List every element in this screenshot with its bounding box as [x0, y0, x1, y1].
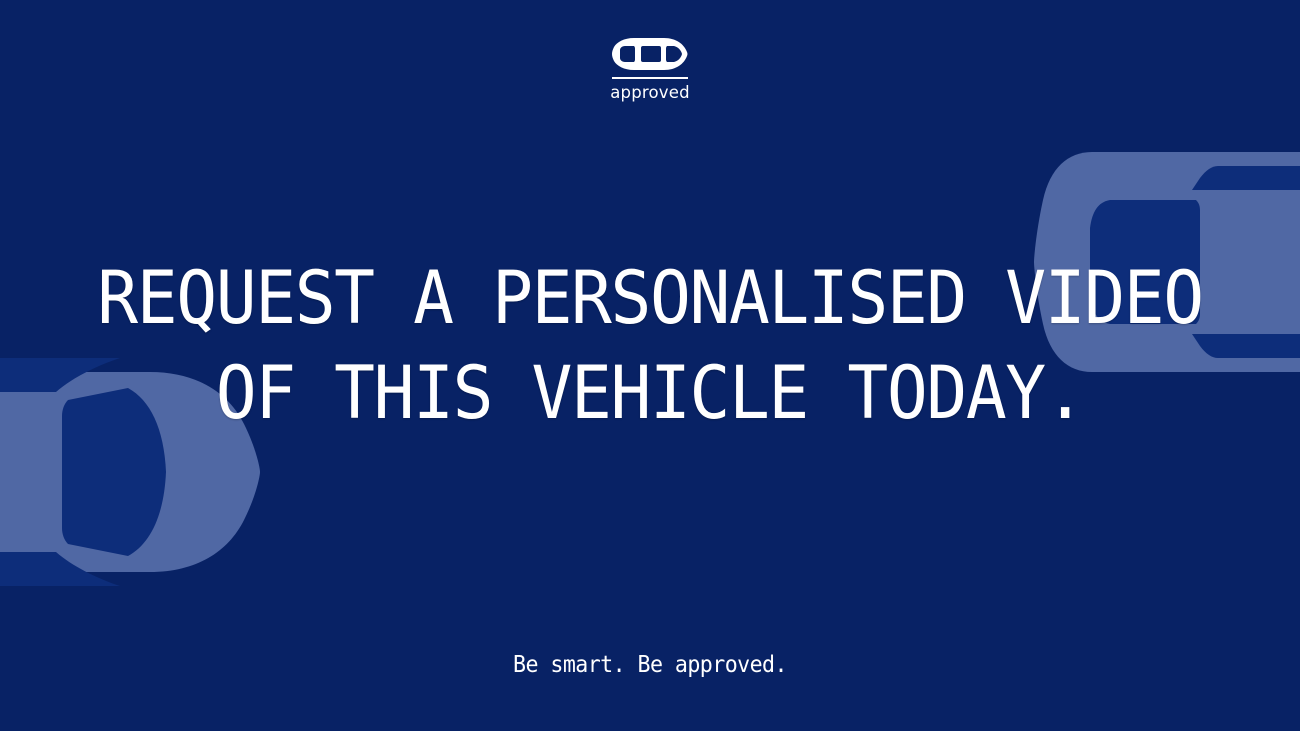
promo-banner: approved REQUEST A PERSONALISED VIDEO OF…	[0, 0, 1300, 731]
tagline: Be smart. Be approved.	[39, 652, 1261, 680]
brand-wordmark: approved	[610, 84, 690, 102]
brand-divider	[612, 77, 688, 79]
car-top-view-icon	[612, 36, 688, 72]
page-title: REQUEST A PERSONALISED VIDEO OF THIS VEH…	[0, 262, 1300, 430]
headline-line-1: REQUEST A PERSONALISED VIDEO	[46, 262, 1255, 335]
brand-logo: approved	[570, 36, 730, 102]
headline-line-2: OF THIS VEHICLE TODAY.	[46, 357, 1255, 430]
